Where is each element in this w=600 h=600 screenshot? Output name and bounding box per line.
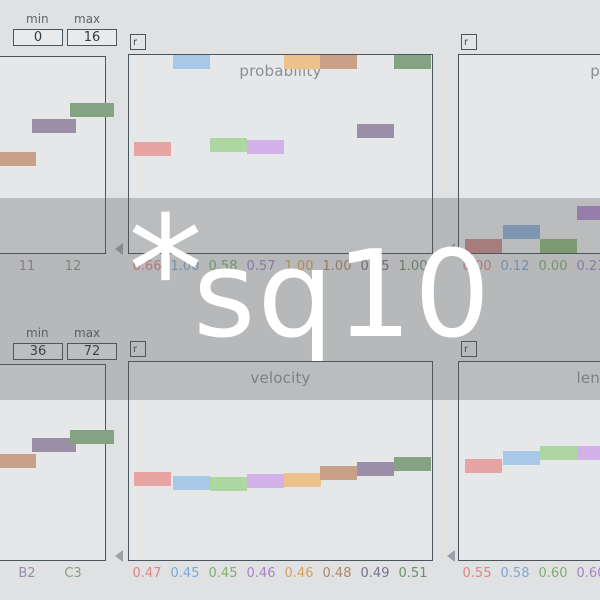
max-label-bottom: max: [74, 326, 100, 340]
panel-top-right: p: [458, 54, 600, 254]
bar-bottom-right-3[interactable]: [577, 446, 600, 460]
bar-top-right-2[interactable]: [540, 239, 577, 253]
r-toggle-probability[interactable]: r: [130, 34, 146, 50]
min-label-bottom: min: [26, 326, 49, 340]
tick-velocity-7: 0.51: [394, 566, 432, 581]
bar-velocity-4[interactable]: [284, 473, 321, 487]
bar-velocity-2[interactable]: [210, 477, 247, 491]
tick-velocity-0: 0.47: [128, 566, 166, 581]
panel-top-probability: probability: [128, 54, 433, 254]
collapse-arrow-bottom-right[interactable]: [447, 550, 455, 562]
tick-bottom-right-0: 0.55: [458, 566, 496, 581]
collapse-arrow-probability[interactable]: [115, 243, 123, 255]
tick-velocity-3: 0.46: [242, 566, 280, 581]
tick-probability-5: 1.00: [318, 259, 356, 274]
bar-probability-2[interactable]: [210, 138, 247, 152]
tick-velocity-2: 0.45: [204, 566, 242, 581]
r-toggle-bottom-right[interactable]: r: [461, 341, 477, 357]
bar-probability-7[interactable]: [394, 55, 431, 69]
r-toggle-velocity[interactable]: r: [130, 341, 146, 357]
bar-bottom-right-2[interactable]: [540, 446, 577, 460]
bar-bottom-left-0[interactable]: [0, 454, 36, 468]
panel-bottom-left: [0, 364, 106, 561]
bar-probability-6[interactable]: [357, 124, 394, 138]
r-toggle-top-right[interactable]: r: [461, 34, 477, 50]
panel-top-left: [0, 56, 106, 254]
bar-velocity-5[interactable]: [320, 466, 357, 480]
tick-probability-4: 1.00: [280, 259, 318, 274]
panel-bottom-velocity: velocity: [128, 361, 433, 561]
plot-area-velocity[interactable]: [128, 361, 433, 561]
bar-top-left-0[interactable]: [0, 152, 36, 166]
bar-top-left-2[interactable]: [70, 103, 114, 117]
bar-velocity-7[interactable]: [394, 457, 431, 471]
tick-probability-1: 1.00: [166, 259, 204, 274]
bar-bottom-right-1[interactable]: [503, 451, 540, 465]
range-controls-top: min max 0 16: [0, 12, 120, 52]
axis-ticks-bottom-left: A2 B2 C3: [0, 566, 106, 581]
bar-velocity-3[interactable]: [247, 474, 284, 488]
bar-bottom-left-2[interactable]: [70, 430, 114, 444]
tick-bottom-left-1: B2: [8, 566, 46, 581]
bar-top-left-1[interactable]: [32, 119, 76, 133]
tick-velocity-4: 0.46: [280, 566, 318, 581]
tick-probability-2: 0.58: [204, 259, 242, 274]
bar-bottom-right-0[interactable]: [465, 459, 502, 473]
tick-velocity-1: 0.45: [166, 566, 204, 581]
axis-ticks-top-left: 8 11 12: [0, 259, 106, 274]
axis-ticks-bottom-right: 0.55 0.58 0.60 0.60: [458, 566, 600, 581]
tick-velocity-6: 0.49: [356, 566, 394, 581]
tick-bottom-right-1: 0.58: [496, 566, 534, 581]
bar-probability-0[interactable]: [134, 142, 171, 156]
collapse-arrow-velocity[interactable]: [115, 550, 123, 562]
range-controls-bottom: min max 36 72: [0, 326, 120, 366]
collapse-arrow-top-right[interactable]: [447, 243, 455, 255]
panel-bottom-right: len: [458, 361, 600, 561]
tick-bottom-left-2: C3: [54, 566, 92, 581]
bar-velocity-0[interactable]: [134, 472, 171, 486]
app-root: min max 0 16 8 11 12 r probability 0.66 …: [0, 0, 600, 600]
bar-probability-5[interactable]: [320, 55, 357, 69]
tick-probability-7: 1.00: [394, 259, 432, 274]
tick-top-right-0: 0.00: [458, 259, 496, 274]
tick-probability-0: 0.66: [128, 259, 166, 274]
max-input-top[interactable]: 16: [67, 29, 117, 46]
tick-bottom-right-2: 0.60: [534, 566, 572, 581]
max-input-bottom[interactable]: 72: [67, 343, 117, 360]
tick-top-left-1: 11: [8, 259, 46, 274]
tick-probability-3: 0.57: [242, 259, 280, 274]
bar-velocity-1[interactable]: [173, 476, 210, 490]
axis-ticks-probability: 0.66 1.00 0.58 0.57 1.00 1.00 0.65 1.00: [128, 259, 433, 274]
bar-probability-1[interactable]: [173, 55, 210, 69]
axis-ticks-velocity: 0.47 0.45 0.45 0.46 0.46 0.48 0.49 0.51: [128, 566, 433, 581]
bar-probability-4[interactable]: [284, 55, 321, 69]
tick-top-right-3: 0.23: [572, 259, 600, 274]
tick-probability-6: 0.65: [356, 259, 394, 274]
min-input-top[interactable]: 0: [13, 29, 63, 46]
axis-ticks-top-right: 0.00 0.12 0.00 0.23: [458, 259, 600, 274]
bar-top-right-0[interactable]: [465, 239, 502, 253]
tick-top-right-1: 0.12: [496, 259, 534, 274]
min-label-top: min: [26, 12, 49, 26]
tick-top-left-2: 12: [54, 259, 92, 274]
tick-top-right-2: 0.00: [534, 259, 572, 274]
plot-area-probability[interactable]: [128, 54, 433, 254]
plot-area-top-right[interactable]: [458, 54, 600, 254]
min-input-bottom[interactable]: 36: [13, 343, 63, 360]
bar-top-right-1[interactable]: [503, 225, 540, 239]
tick-bottom-right-3: 0.60: [572, 566, 600, 581]
tick-velocity-5: 0.48: [318, 566, 356, 581]
bar-velocity-6[interactable]: [357, 462, 394, 476]
max-label-top: max: [74, 12, 100, 26]
bar-top-right-3[interactable]: [577, 206, 600, 220]
bar-probability-3[interactable]: [247, 140, 284, 154]
